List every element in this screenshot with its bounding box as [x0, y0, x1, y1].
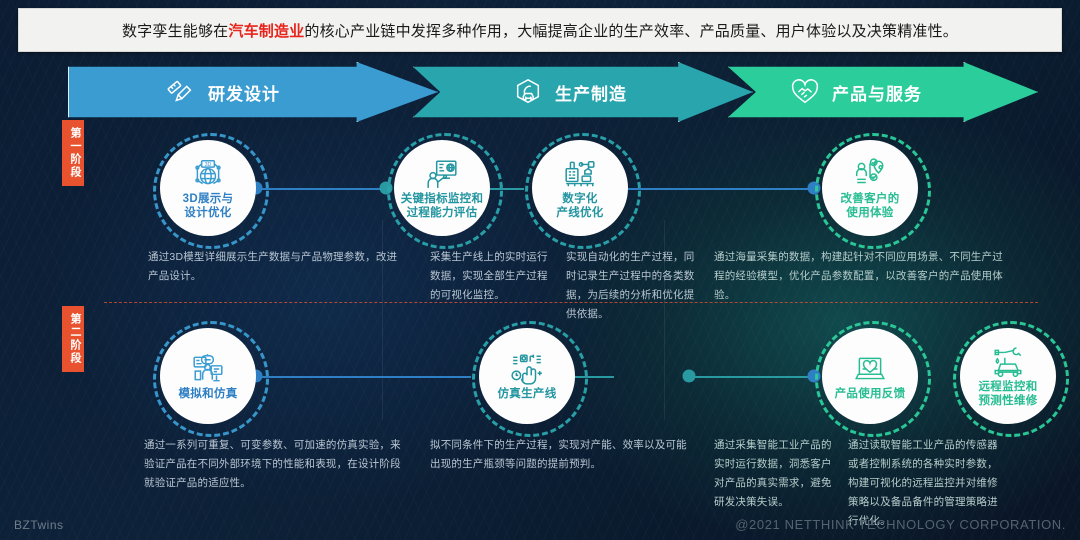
phase-arrow-product-service[interactable]: 产品与服务: [728, 62, 1038, 122]
car-hexagon-icon: [513, 77, 543, 107]
connector-rail: [256, 188, 386, 190]
connector-rail: [689, 376, 814, 378]
topic-description: 采集生产线上的实时运行数据，实现全部生产过程的可视化监控。: [430, 248, 550, 305]
topic-circle-simulation[interactable]: 模拟和仿真: [160, 328, 256, 424]
topic-circle-customer-experience[interactable]: 改善客户的 使用体验: [822, 140, 918, 236]
topic-circle-kpi-monitoring[interactable]: 关键指标监控和 过程能力评估: [394, 140, 490, 236]
dashed-ring: [815, 133, 931, 249]
topic-description: 通过采集智能工业产品的实时运行数据，洞悉客户对产品的真实需求，避免研发决策失误。: [714, 436, 834, 512]
dashed-ring: [387, 133, 503, 249]
topic-circle-3d-display[interactable]: 3D 3D展示与 设计优化: [160, 140, 256, 236]
topic-description: 通过一系列可重复、可变参数、可加速的仿真实验，来验证产品在不同外部环境下的性能和…: [144, 436, 408, 493]
dashed-ring: [153, 133, 269, 249]
infographic-canvas: 数字孪生能够在汽车制造业的核心产业链中发挥多种作用，大幅提高企业的生产效率、产品…: [0, 0, 1080, 540]
phase-arrow-manufacturing[interactable]: 生产制造: [413, 62, 753, 122]
headline-text: 数字孪生能够在汽车制造业的核心产业链中发挥多种作用，大幅提高企业的生产效率、产品…: [122, 20, 958, 41]
phase-label: 产品与服务: [832, 80, 922, 105]
footer-left-label: BZTwins: [14, 518, 64, 532]
phase-arrow-bar: 研发设计 生产制造: [68, 62, 1038, 122]
topic-circle-product-feedback[interactable]: 产品使用反馈: [822, 328, 918, 424]
dashed-ring: [953, 321, 1069, 437]
headline-after: 的核心产业链中发挥多种作用，大幅提高企业的生产效率、产品质量、用户体验以及决策精…: [304, 23, 958, 40]
phase-label: 研发设计: [208, 80, 280, 105]
phase-arrow-research-design[interactable]: 研发设计: [68, 62, 438, 122]
dashed-ring: [153, 321, 269, 437]
topic-circle-simulated-line[interactable]: 仿真生产线: [479, 328, 575, 424]
stage-two-row: 模拟和仿真 仿真生产线: [104, 310, 1038, 500]
headline-banner: 数字孪生能够在汽车制造业的核心产业链中发挥多种作用，大幅提高企业的生产效率、产品…: [18, 8, 1062, 52]
topic-description: 通过3D模型详细展示生产数据与产品物理参数，改进产品设计。: [148, 248, 406, 286]
stage-one-row: 3D 3D展示与 设计优化: [104, 122, 1038, 302]
stage-badge-one: 第一阶段: [62, 120, 84, 186]
topic-description: 拟不同条件下的生产过程，实现对产能、效率以及可能出现的生产瓶颈等问题的提前预判。: [430, 436, 688, 474]
stage-badge-two: 第二阶段: [62, 306, 84, 372]
dashed-ring: [815, 321, 931, 437]
topic-circle-digital-line[interactable]: 数字化 产线优化: [532, 140, 628, 236]
connector-node: [683, 370, 696, 383]
footer-copyright: @2021 NETTHINK TECHNOLOGY CORPORATION.: [735, 517, 1066, 532]
topic-circle-remote-maintenance[interactable]: 远程监控和 预测性维修: [960, 328, 1056, 424]
dashed-ring: [472, 321, 588, 437]
ruler-pencil-icon: [166, 77, 196, 107]
headline-before: 数字孪生能够在: [122, 23, 228, 40]
dashed-ring: [525, 133, 641, 249]
topic-description: 通过海量采集的数据，构建起针对不同应用场景、不同生产过程的经验模型，优化产品参数…: [714, 248, 1006, 305]
connector-rail: [256, 376, 471, 378]
phase-label: 生产制造: [555, 80, 627, 105]
stages-panel: 第一阶段 第二阶段 3D: [68, 120, 1038, 500]
headline-highlight: 汽车制造业: [228, 23, 304, 40]
handshake-heart-icon: [790, 77, 820, 107]
